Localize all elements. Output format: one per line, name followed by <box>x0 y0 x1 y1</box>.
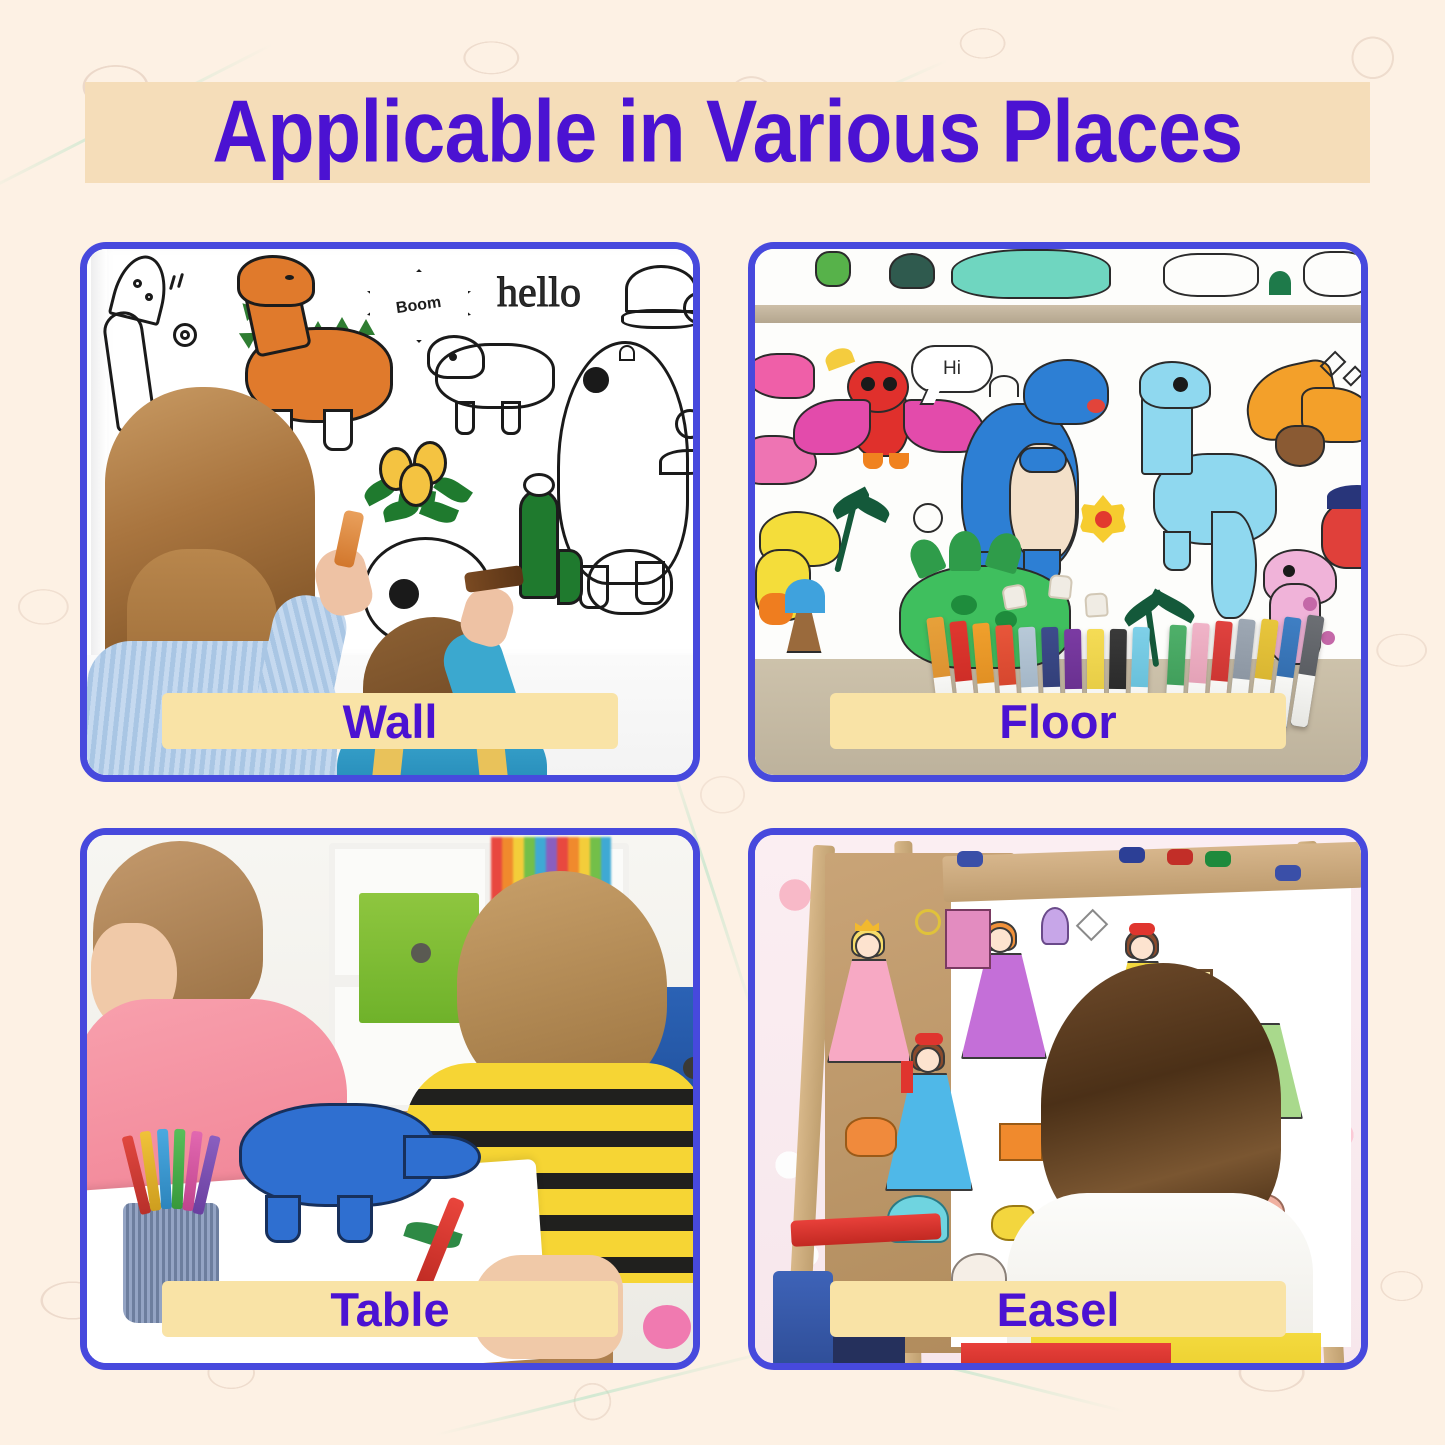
card-label-badge-table: Table <box>162 1281 618 1337</box>
upper-dark-shape <box>889 253 935 289</box>
hi-speech-bubble: Hi <box>911 345 993 393</box>
doodle-dino-leg <box>455 401 475 435</box>
marker-cap[interactable] <box>1084 592 1109 618</box>
blue-spray <box>785 579 825 613</box>
pink-dino-eye <box>1283 565 1295 577</box>
doodle-spiral-inner <box>180 330 190 340</box>
doodle-dino-leg <box>501 401 521 435</box>
title-banner: Applicable in Various Places <box>85 82 1370 183</box>
magnet-clip[interactable] <box>957 851 983 867</box>
blue-dino-tail <box>403 1135 481 1179</box>
pink-flower-drawing <box>643 1305 691 1349</box>
red-stego <box>1321 501 1361 569</box>
orange-dinosaur-eye <box>285 275 294 280</box>
pink-dino-spot <box>1303 597 1317 611</box>
doodle-egg-crack <box>587 549 673 615</box>
red-dino-foot <box>889 453 909 469</box>
hair-bow <box>1129 923 1155 935</box>
doodle-triceratops-eye <box>389 579 419 609</box>
orange-cat-drawing <box>845 1117 897 1157</box>
cube-knob <box>411 943 431 963</box>
place-card-table[interactable]: Table <box>80 828 700 1370</box>
card-label-floor: Floor <box>999 698 1116 745</box>
doodle-dot <box>133 279 142 288</box>
magnet-clip[interactable] <box>1275 865 1301 881</box>
yellow-flower-center <box>1095 511 1112 528</box>
boom-text: Boom <box>395 294 442 318</box>
page-title: Applicable in Various Places <box>212 89 1242 177</box>
cactus-stem <box>519 489 559 599</box>
princess-head <box>855 933 881 959</box>
orange-dinosaur-leg <box>323 409 353 451</box>
pink-dino-spot <box>1321 631 1335 645</box>
gift-drawing <box>999 1123 1043 1161</box>
mirror-drawing <box>1041 907 1069 945</box>
magnet-clip[interactable] <box>1119 847 1145 863</box>
cyan-dino-eye <box>1173 377 1188 392</box>
doodle-dino-eye <box>449 353 457 361</box>
blue-dino-arm <box>1019 447 1067 473</box>
blue-chair <box>773 1271 833 1363</box>
upper-green-dino <box>815 251 851 287</box>
place-card-floor[interactable]: Hi <box>748 242 1368 782</box>
princess-head <box>1129 935 1155 961</box>
red-dino-foot <box>863 453 883 469</box>
red-dino-eye <box>883 377 897 391</box>
cactus-arm <box>557 549 583 605</box>
magnet-clip[interactable] <box>1167 849 1193 865</box>
marker-cap[interactable] <box>1048 574 1073 600</box>
hair-bow <box>915 1033 943 1045</box>
card-label-easel: Easel <box>997 1286 1120 1333</box>
place-card-easel[interactable]: Easel <box>748 828 1368 1370</box>
doodle-big-dino-spike <box>619 345 635 361</box>
card-label-badge-wall: Wall <box>162 693 618 749</box>
princess-head <box>915 1047 941 1073</box>
blue-dino-nose <box>1087 399 1105 413</box>
places-card-grid: Boom hello <box>80 242 1368 1370</box>
stego-plate <box>949 531 981 571</box>
blue-dino-head <box>1023 359 1109 425</box>
upper-grass <box>1269 271 1291 295</box>
pink-wing-left <box>755 353 815 399</box>
marker-cap[interactable] <box>1001 583 1028 611</box>
doodle-hello-text: hello <box>497 269 581 317</box>
orange-ptero-body <box>1275 425 1325 467</box>
stego-spot <box>951 595 977 615</box>
hi-text: Hi <box>943 358 961 380</box>
card-label-badge-easel: Easel <box>830 1281 1286 1337</box>
easel-red-base <box>961 1343 1171 1363</box>
cyan-dino-leg <box>1163 531 1191 571</box>
cactus-flower <box>523 473 555 497</box>
card-label-wall: Wall <box>343 698 438 745</box>
doodle-bird <box>989 375 1019 397</box>
nest-egg <box>399 463 433 507</box>
small-outline-flower <box>913 503 943 533</box>
upper-outline-dino <box>1163 253 1259 297</box>
blue-dino-leg <box>265 1195 301 1243</box>
card-label-table: Table <box>330 1286 449 1333</box>
blue-dino-leg <box>337 1195 373 1243</box>
castle-drawing <box>945 909 991 969</box>
lipstick-drawing <box>901 1061 913 1093</box>
floor-wood-rail <box>755 305 1361 323</box>
doodle-big-dino-eye <box>583 367 609 393</box>
doodle-shell-base <box>621 309 693 329</box>
cyan-dino-tail <box>1211 511 1257 619</box>
red-dino-eye <box>861 377 875 391</box>
upper-outline-dino2 <box>1303 251 1361 297</box>
clock-drawing <box>915 909 941 935</box>
card-label-badge-floor: Floor <box>830 693 1286 749</box>
magnet-clip[interactable] <box>1205 851 1231 867</box>
doodle-dot <box>145 293 153 301</box>
place-card-wall[interactable]: Boom hello <box>80 242 700 782</box>
upper-teal-dino <box>951 249 1111 299</box>
